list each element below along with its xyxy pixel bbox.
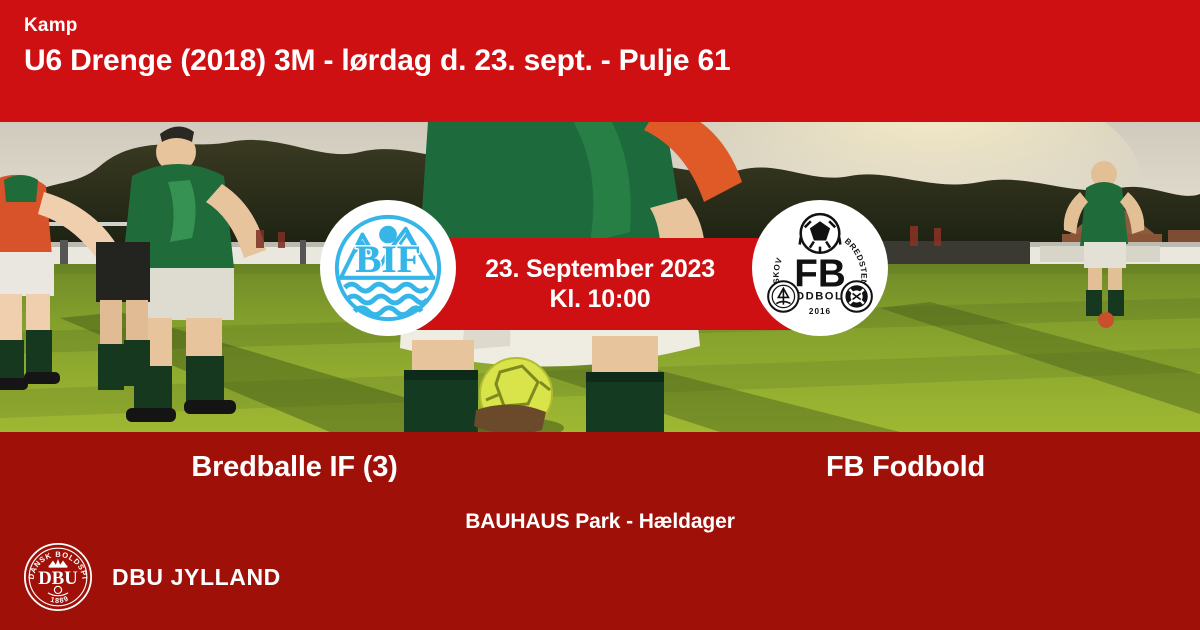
kamp-label: Kamp: [24, 16, 1200, 37]
page-title: U6 Drenge (2018) 3M - lørdag d. 23. sept…: [24, 44, 1200, 79]
match-time: Kl. 10:00: [549, 284, 650, 315]
mini-crest-right: [841, 281, 872, 312]
poster-header: Kamp U6 Drenge (2018) 3M - lørdag d. 23.…: [0, 0, 1200, 122]
footer-label: DBU JYLLAND: [112, 564, 281, 591]
away-team-name: FB Fodbold: [605, 450, 1200, 485]
home-club-crest: BIF BIF: [320, 200, 456, 336]
footer: DANSK BOLDSPIL UNION DBU 1889 DBU JYLLAN…: [22, 541, 281, 613]
svg-text:BIF: BIF: [355, 237, 421, 281]
mini-crest-left: [768, 281, 799, 312]
home-team-name: Bredballe IF (3): [0, 450, 605, 485]
soccer-ball-icon: [800, 214, 841, 253]
svg-text:FB: FB: [794, 252, 846, 295]
venue-name: BAUHAUS Park - Hældager: [0, 510, 1200, 534]
fb-fodbold-logo-icon: FIRSKOV BREDSTEN FB FODBOLD 2016: [759, 207, 881, 329]
match-poster: Kamp U6 Drenge (2018) 3M - lørdag d. 23.…: [0, 0, 1200, 630]
away-club-crest: FIRSKOV BREDSTEN FB FODBOLD 2016: [752, 200, 888, 336]
teams-row: Bredballe IF (3) FB Fodbold: [0, 450, 1200, 485]
svg-text:BREDSTEN: BREDSTEN: [843, 237, 868, 287]
svg-text:2016: 2016: [809, 307, 831, 316]
dbu-seal-icon: DANSK BOLDSPIL UNION DBU 1889: [22, 541, 94, 613]
bredballe-if-logo-icon: BIF BIF: [329, 209, 447, 327]
match-date: 23. September 2023: [485, 254, 715, 285]
